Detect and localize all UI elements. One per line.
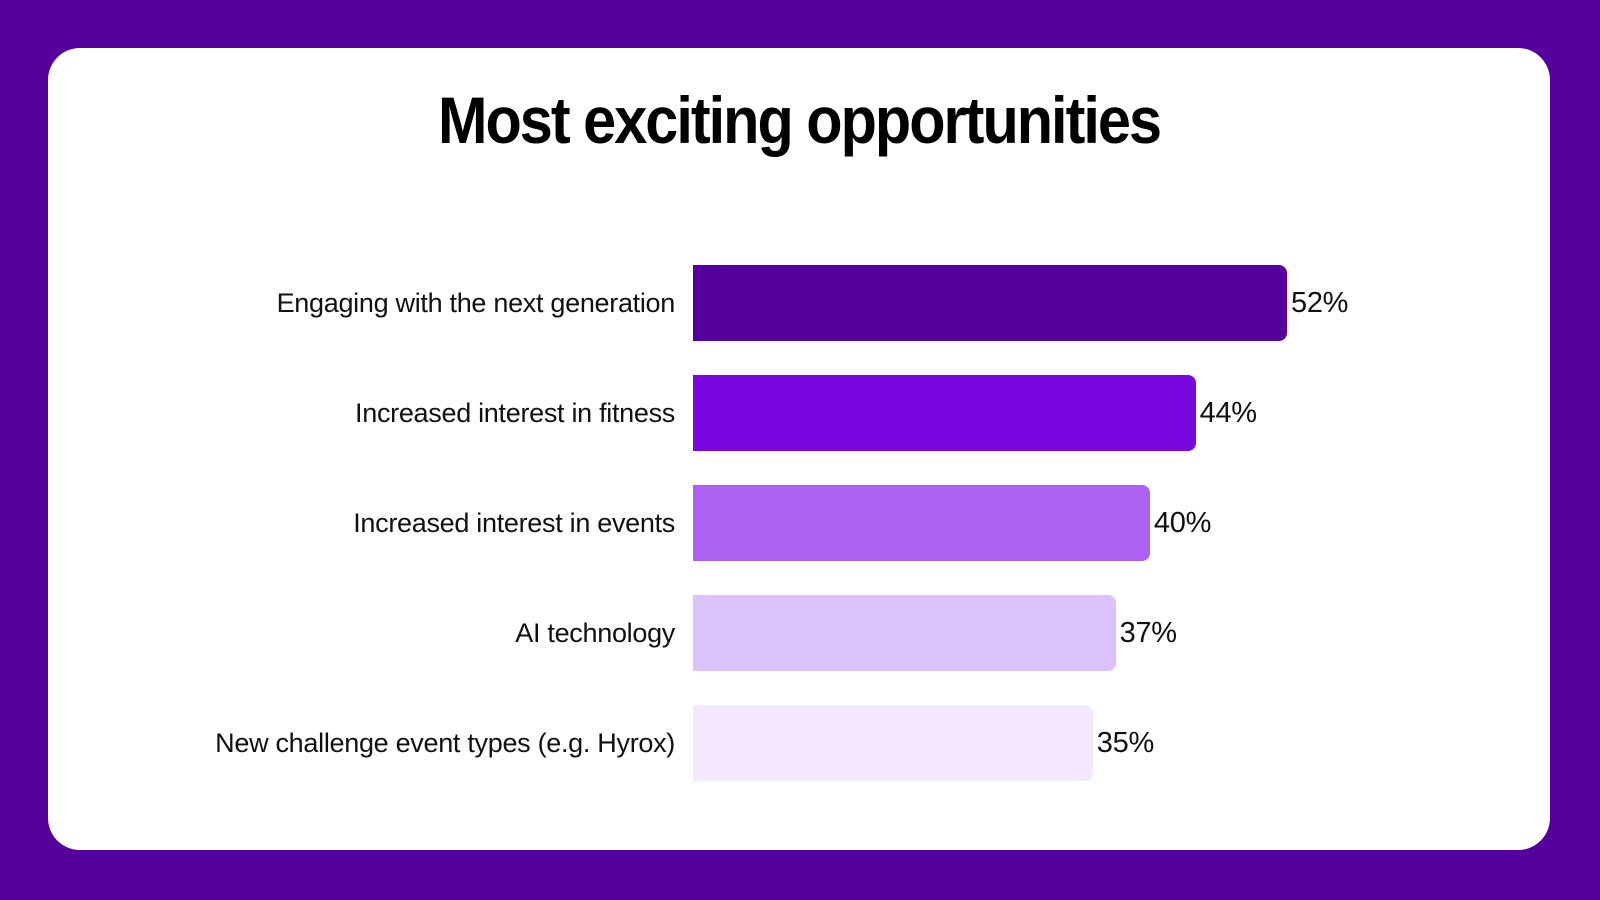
bar-value-label: 52% (1291, 287, 1348, 320)
bar (693, 265, 1287, 341)
bar-value-label: 37% (1120, 617, 1177, 650)
bar-value-label: 44% (1200, 397, 1257, 430)
bar-track: 52% (693, 265, 1550, 341)
bar-category-label: Increased interest in events (48, 508, 693, 539)
bar-category-label: Increased interest in fitness (48, 398, 693, 429)
bar (693, 595, 1116, 671)
page-title: Most exciting opportunities (123, 86, 1475, 155)
bar-track: 35% (693, 705, 1550, 781)
bar-track: 44% (693, 375, 1550, 451)
chart-card: Most exciting opportunities Engaging wit… (48, 48, 1550, 850)
bar-value-label: 35% (1097, 727, 1154, 760)
bar (693, 485, 1150, 561)
bar-track: 37% (693, 595, 1550, 671)
bar-row: Increased interest in fitness44% (48, 375, 1550, 451)
bar-category-label: New challenge event types (e.g. Hyrox) (48, 728, 693, 759)
bar-track: 40% (693, 485, 1550, 561)
screenshot-root: Most exciting opportunities Engaging wit… (0, 0, 1600, 900)
bar-category-label: Engaging with the next generation (48, 288, 693, 319)
bar-category-label: AI technology (48, 618, 693, 649)
bar (693, 705, 1093, 781)
bar (693, 375, 1196, 451)
bar-row: Increased interest in events40% (48, 485, 1550, 561)
bar-row: AI technology37% (48, 595, 1550, 671)
bar-row: Engaging with the next generation52% (48, 265, 1550, 341)
bar-value-label: 40% (1154, 507, 1211, 540)
bar-row: New challenge event types (e.g. Hyrox)35… (48, 705, 1550, 781)
bar-chart-plot: Engaging with the next generation52%Incr… (48, 207, 1550, 807)
